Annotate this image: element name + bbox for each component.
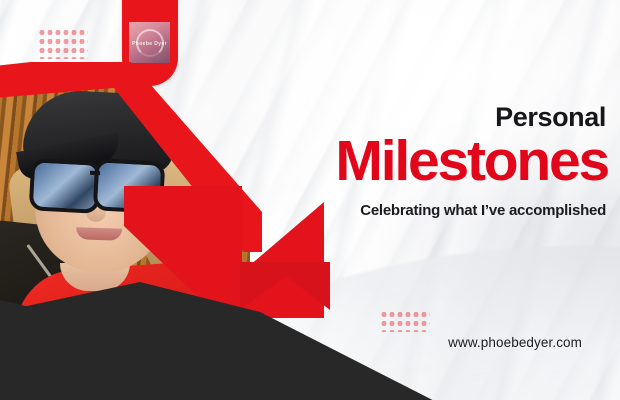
website-url: www.phoebedyer.com xyxy=(448,336,582,350)
photo-mouth xyxy=(76,227,122,241)
presentation-slide: Phoebe Dyer Personal Milestones xyxy=(0,0,620,400)
slide-title: Milestones xyxy=(335,133,608,190)
photo-glasses-bridge xyxy=(90,171,100,176)
slide-subtitle: Celebrating what I’ve accomplished xyxy=(360,203,606,218)
brand-logo-caption: Phoebe Dyer xyxy=(132,41,167,47)
brand-logo: Phoebe Dyer xyxy=(129,22,170,63)
photo-glasses-left-lens xyxy=(29,158,102,214)
dot-grid-icon-bottom-right xyxy=(380,310,430,332)
dot-grid-icon-top-left xyxy=(38,28,88,59)
slide-kicker: Personal xyxy=(495,104,606,131)
